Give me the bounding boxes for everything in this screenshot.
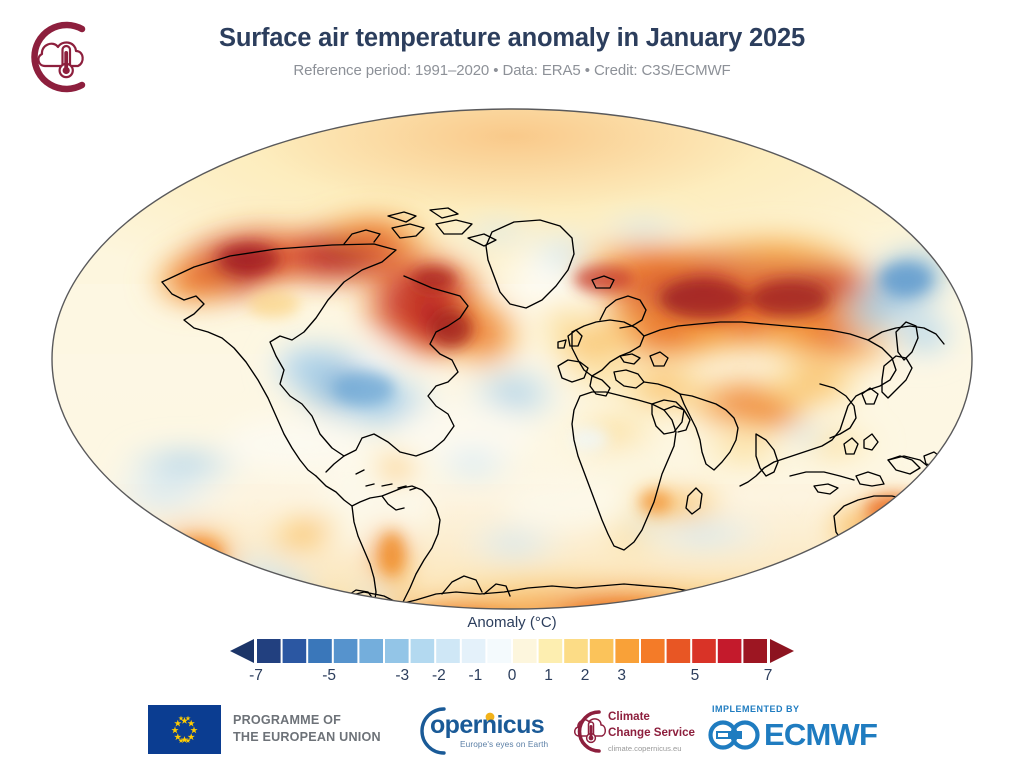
colorbar-tick: 5 (691, 667, 700, 685)
colorbar-swatch (308, 639, 332, 663)
page-title: Surface air temperature anomaly in Janua… (0, 24, 1024, 53)
colorbar-tick: 7 (764, 667, 773, 685)
colorbar-tick: -7 (249, 667, 263, 685)
climate-map-figure: Surface air temperature anomaly in Janua… (0, 0, 1024, 768)
colorbar-tick: 0 (508, 667, 517, 685)
colorbar-tick: 1 (544, 667, 553, 685)
colorbar-swatch (257, 639, 281, 663)
colorbar-swatch (513, 639, 537, 663)
colorbar-tick: -2 (432, 667, 446, 685)
ecmwf-implemented-by-label: IMPLEMENTED BY (712, 704, 800, 714)
colorbar-swatch (743, 639, 767, 663)
world-anomaly-map (44, 104, 980, 614)
colorbar (228, 638, 796, 664)
ecmwf-double-circle-icon (706, 720, 764, 750)
c3s-line-2: Change Service (608, 725, 695, 741)
colorbar-swatch (564, 639, 588, 663)
colorbar-title: Anomaly (°C) (0, 614, 1024, 631)
colorbar-swatch (334, 639, 358, 663)
colorbar-swatch (692, 639, 716, 663)
c3s-logo: Climate Change Service climate.copernicu… (566, 700, 696, 762)
page-subtitle: Reference period: 1991–2020 • Data: ERA5… (0, 62, 1024, 79)
ecmwf-logo: IMPLEMENTED BY ECMWF (700, 700, 900, 762)
copernicus-wordmark: opernicus (430, 711, 544, 740)
c3s-url: climate.copernicus.eu (608, 744, 681, 753)
ecmwf-wordmark: ECMWF (764, 717, 877, 753)
colorbar-tick: -5 (322, 667, 336, 685)
colorbar-tick: -1 (468, 667, 482, 685)
eu-programme-logo: PROGRAMME OF THE EUROPEAN UNION (148, 700, 398, 762)
copernicus-tagline: Europe's eyes on Earth (460, 739, 548, 749)
eu-line-2: THE EUROPEAN UNION (233, 729, 381, 746)
colorbar-tick-labels: -7-5-3-2-1012357 (228, 667, 796, 689)
colorbar-tick: -3 (395, 667, 409, 685)
colorbar-swatch (667, 639, 691, 663)
colorbar-swatch (359, 639, 383, 663)
colorbar-swatch (411, 639, 435, 663)
eu-line-1: PROGRAMME OF (233, 712, 381, 729)
c3s-label: Climate Change Service (608, 709, 695, 740)
colorbar-swatch (436, 639, 460, 663)
colorbar-swatch (462, 639, 486, 663)
colorbar-swatch (539, 639, 563, 663)
colorbar-swatch (283, 639, 307, 663)
colorbar-swatch (718, 639, 742, 663)
c3s-cloud-thermometer-icon (566, 706, 610, 758)
colorbar-swatch (641, 639, 665, 663)
footer-logos: PROGRAMME OF THE EUROPEAN UNION opernicu… (0, 700, 1024, 762)
eu-flag-icon (148, 705, 221, 754)
colorbar-swatch (385, 639, 409, 663)
colorbar-swatch (615, 639, 639, 663)
colorbar-swatch (590, 639, 614, 663)
colorbar-tick: 3 (617, 667, 626, 685)
eu-programme-label: PROGRAMME OF THE EUROPEAN UNION (233, 712, 381, 745)
copernicus-logo: opernicus Europe's eyes on Earth (404, 700, 554, 762)
c3s-line-1: Climate (608, 709, 695, 725)
anomaly-field (44, 104, 980, 614)
colorbar-tick: 2 (581, 667, 590, 685)
title-block: Surface air temperature anomaly in Janua… (0, 24, 1024, 79)
colorbar-swatch (487, 639, 511, 663)
